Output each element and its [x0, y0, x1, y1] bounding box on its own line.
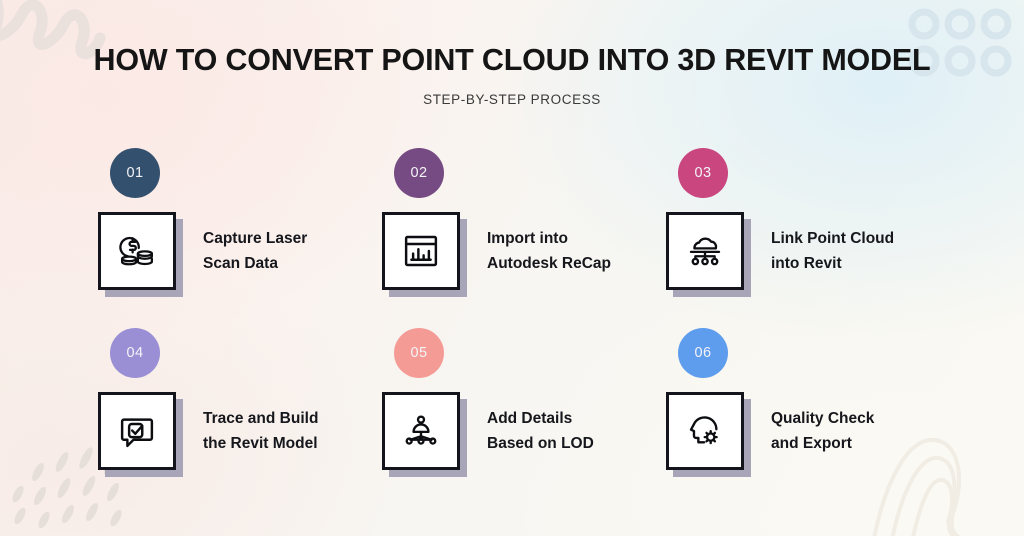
cloud-network-icon	[684, 230, 726, 272]
step-body-06: Quality Check and Export	[666, 392, 950, 470]
step-item-04[interactable]: 04 Trace and Build the Revit Model	[98, 328, 382, 508]
step-number-badge-03: 03	[678, 148, 728, 198]
step-item-06[interactable]: 06 Quality Check and Export	[666, 328, 950, 508]
page-title: HOW TO CONVERT POINT CLOUD INTO 3D REVIT…	[0, 44, 1024, 78]
step-number-badge-05: 05	[394, 328, 444, 378]
infographic-poster: HOW TO CONVERT POINT CLOUD INTO 3D REVIT…	[0, 0, 1024, 536]
step-icon-box-03	[666, 212, 744, 290]
step-body-02: Import into Autodesk ReCap	[382, 212, 666, 290]
head-gear-icon	[684, 410, 726, 452]
step-icon-box-04	[98, 392, 176, 470]
poster-header: HOW TO CONVERT POINT CLOUD INTO 3D REVIT…	[0, 44, 1024, 107]
step-icon-box-02	[382, 212, 460, 290]
step-icon-box-01	[98, 212, 176, 290]
step-item-03[interactable]: 03 Link Point	[666, 148, 950, 328]
step-body-04: Trace and Build the Revit Model	[98, 392, 382, 470]
step-number-badge-01: 01	[110, 148, 160, 198]
chat-check-icon	[116, 410, 158, 452]
step-body-01: Capture Laser Scan Data	[98, 212, 382, 290]
step-number-badge-02: 02	[394, 148, 444, 198]
step-item-02[interactable]: 02 Import into Autodesk ReCap	[382, 148, 666, 328]
page-subtitle: STEP-BY-STEP PROCESS	[0, 92, 1024, 107]
step-label-01: Capture Laser Scan Data	[203, 226, 307, 276]
coins-dollar-icon	[116, 230, 158, 272]
bar-chart-window-icon	[400, 230, 442, 272]
step-label-06: Quality Check and Export	[771, 406, 874, 456]
step-icon-box-05	[382, 392, 460, 470]
step-label-03: Link Point Cloud into Revit	[771, 226, 894, 276]
step-item-05[interactable]: 05	[382, 328, 666, 508]
person-hierarchy-icon	[400, 410, 442, 452]
step-number-badge-04: 04	[110, 328, 160, 378]
step-label-04: Trace and Build the Revit Model	[203, 406, 318, 456]
step-item-01[interactable]: 01	[98, 148, 382, 328]
step-body-03: Link Point Cloud into Revit	[666, 212, 950, 290]
step-number-badge-06: 06	[678, 328, 728, 378]
step-label-05: Add Details Based on LOD	[487, 406, 594, 456]
step-icon-box-06	[666, 392, 744, 470]
step-body-05: Add Details Based on LOD	[382, 392, 666, 470]
step-label-02: Import into Autodesk ReCap	[487, 226, 611, 276]
steps-grid: 01	[98, 148, 938, 508]
